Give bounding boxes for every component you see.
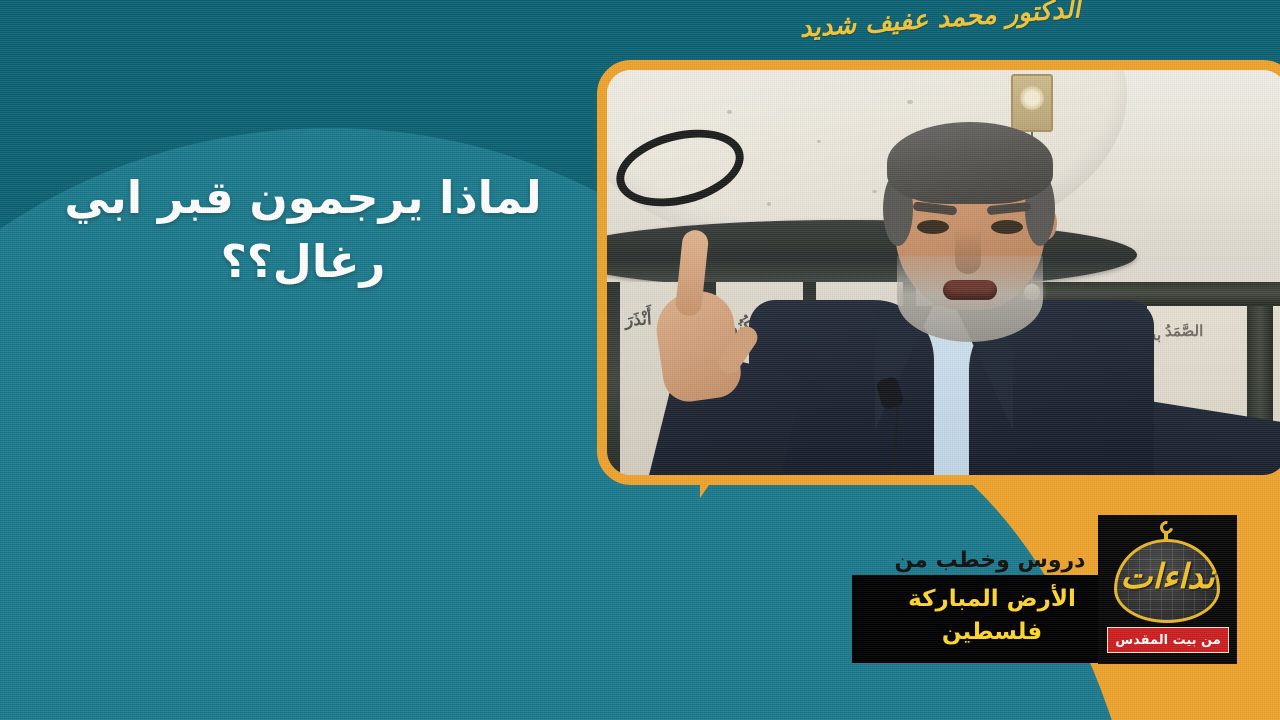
hair (887, 122, 1053, 204)
speaker-photo: أَنْذَرَ كُنُوا لَهُ بسم الله الرحمن الر… (607, 70, 1280, 475)
speaker-figure (757, 110, 1277, 475)
channel-logo[interactable]: نداءات من بيت المقدس (1098, 515, 1237, 664)
headline-line-2: رغال؟؟ (58, 230, 548, 294)
speaker-photo-frame: أَنْذَرَ كُنُوا لَهُ بسم الله الرحمن الر… (597, 60, 1280, 485)
thumbnail-canvas: الدكتور محمد عفيف شديد لماذا يرجمون قبر … (0, 0, 1280, 720)
logo-ribbon-text: من بيت المقدس (1115, 633, 1221, 648)
banner-lines-2-3: الأرض المباركة فلسطين (852, 583, 1132, 650)
eye-left (917, 220, 949, 234)
headline-line-1: لماذا يرجمون قبر ابي (64, 171, 541, 224)
banner-line-1: دروس وخطب من (860, 548, 1120, 573)
banner-line-2: الأرض المباركة (852, 583, 1132, 616)
banner-line-3: فلسطين (852, 616, 1132, 649)
logo-ribbon: من بيت المقدس (1107, 627, 1229, 653)
eye-right (991, 220, 1023, 234)
nose (955, 228, 981, 274)
mouth (943, 280, 997, 300)
banner-black-box: الأرض المباركة فلسطين (852, 575, 1132, 663)
logo-wordmark: نداءات (1098, 557, 1237, 597)
page-title: لماذا يرجمون قبر ابي رغال؟؟ (58, 166, 548, 294)
carved-inscription-1: أَنْذَرَ (624, 309, 652, 330)
